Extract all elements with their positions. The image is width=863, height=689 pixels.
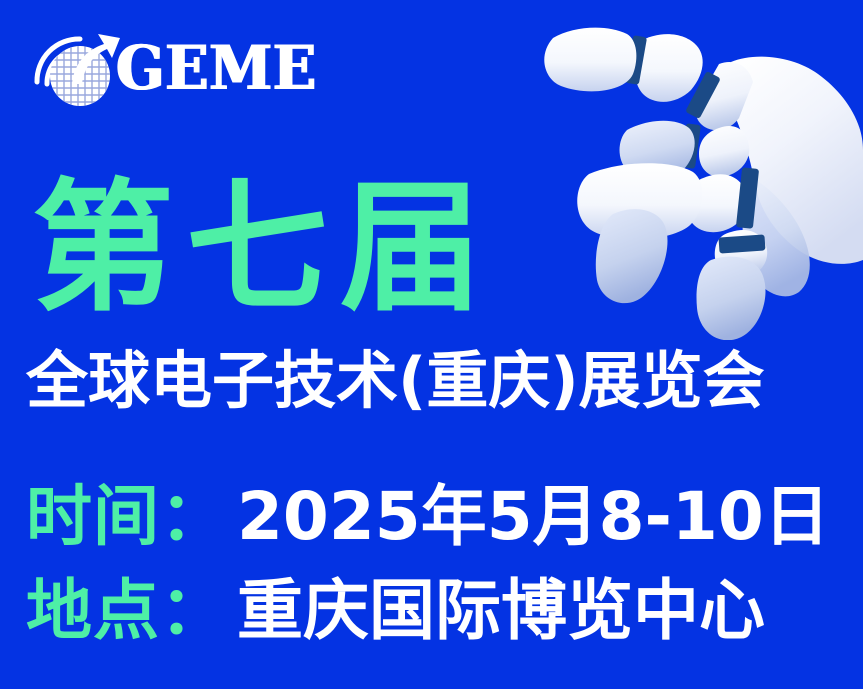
exhibition-poster: GEME 第七届 全球电子技术(重庆)展览会 时间：2025年5月8-10日 地…	[0, 0, 863, 689]
index-finger-proximal	[696, 62, 753, 130]
date-label: 时间：	[26, 478, 227, 555]
index-finger-distal	[544, 28, 636, 92]
ring-finger-proximal	[685, 174, 747, 232]
index-joint-band-1	[625, 35, 647, 85]
middle-finger-distal	[620, 121, 695, 179]
brand-logo: GEME	[28, 22, 317, 114]
hand-thenar	[743, 176, 810, 296]
robotic-hand-pointing-graphic	[543, 0, 863, 340]
middle-finger-proximal	[699, 126, 749, 177]
venue-value: 重庆国际博览中心	[237, 572, 765, 649]
event-subtitle: 全球电子技术(重庆)展览会	[26, 348, 765, 413]
event-date-line: 时间：2025年5月8-10日	[26, 484, 830, 550]
date-value: 2025年5月8-10日	[237, 478, 830, 555]
thumb-proximal	[715, 230, 767, 278]
ring-joint-band	[736, 167, 759, 228]
event-venue-line: 地点：重庆国际博览中心	[26, 578, 765, 644]
index-joint-band-2	[685, 71, 721, 119]
venue-label: 地点：	[26, 572, 227, 649]
hand-palm	[725, 57, 863, 264]
index-finger-middle	[634, 34, 703, 102]
thumb-distal	[697, 257, 766, 340]
logo-wordmark: GEME	[116, 38, 317, 98]
middle-joint-band	[680, 123, 701, 169]
page-title: 第七届	[32, 178, 494, 320]
pinky-finger	[596, 209, 668, 303]
thumb-joint-band	[718, 234, 765, 253]
ring-finger-distal	[577, 163, 702, 239]
globe-grid-arrow-logo-icon	[28, 22, 120, 114]
